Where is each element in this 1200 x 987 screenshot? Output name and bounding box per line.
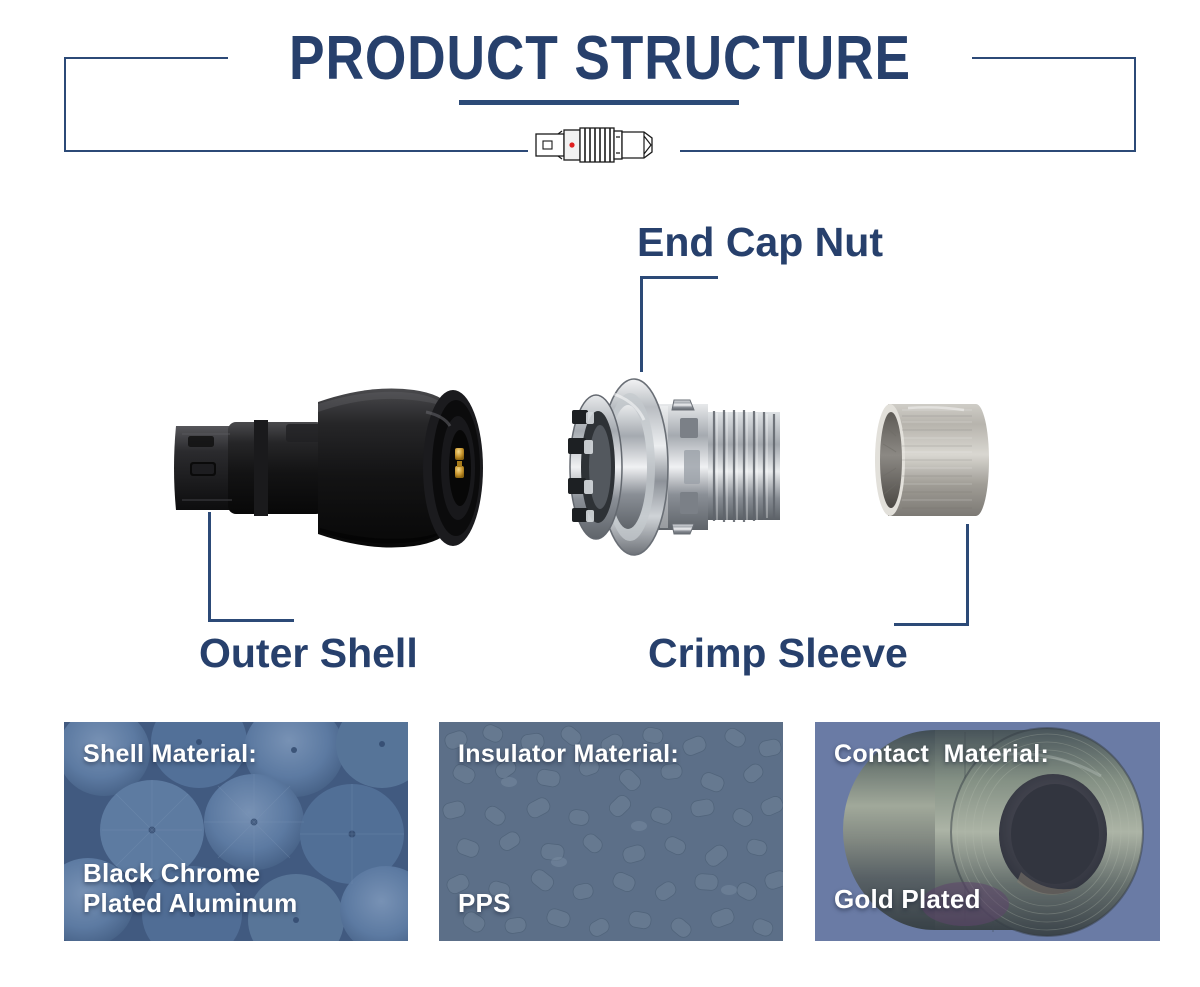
material-card-value: Gold Plated [834, 884, 981, 915]
material-card-value: PPS [458, 888, 511, 919]
product-structure-infographic: PRODUCT STRUCTURE [0, 0, 1200, 987]
material-card-contact: Contact Material: Gold Plated [815, 722, 1160, 941]
material-card-title: Insulator Material: [458, 740, 679, 769]
connector-line-art-icon [528, 115, 680, 175]
material-card-insulator: Insulator Material: PPS [439, 722, 783, 941]
material-card-shell: Shell Material: Black Chrome Plated Alum… [64, 722, 408, 941]
outer-shell-photo [168, 378, 508, 558]
material-card-value: Black Chrome Plated Aluminum [83, 858, 297, 919]
component-label-outer-shell: Outer Shell [199, 630, 418, 677]
title-underline [459, 100, 739, 105]
material-card-title: Shell Material: [83, 740, 257, 769]
material-card-title: Contact Material: [834, 740, 1049, 769]
crimp-sleeve-photo [868, 392, 990, 528]
end-cap-nut-photo [556, 372, 788, 562]
component-label-crimp-sleeve: Crimp Sleeve [648, 630, 908, 677]
component-label-end-cap-nut: End Cap Nut [637, 219, 883, 266]
page-title: PRODUCT STRUCTURE [84, 26, 1116, 91]
